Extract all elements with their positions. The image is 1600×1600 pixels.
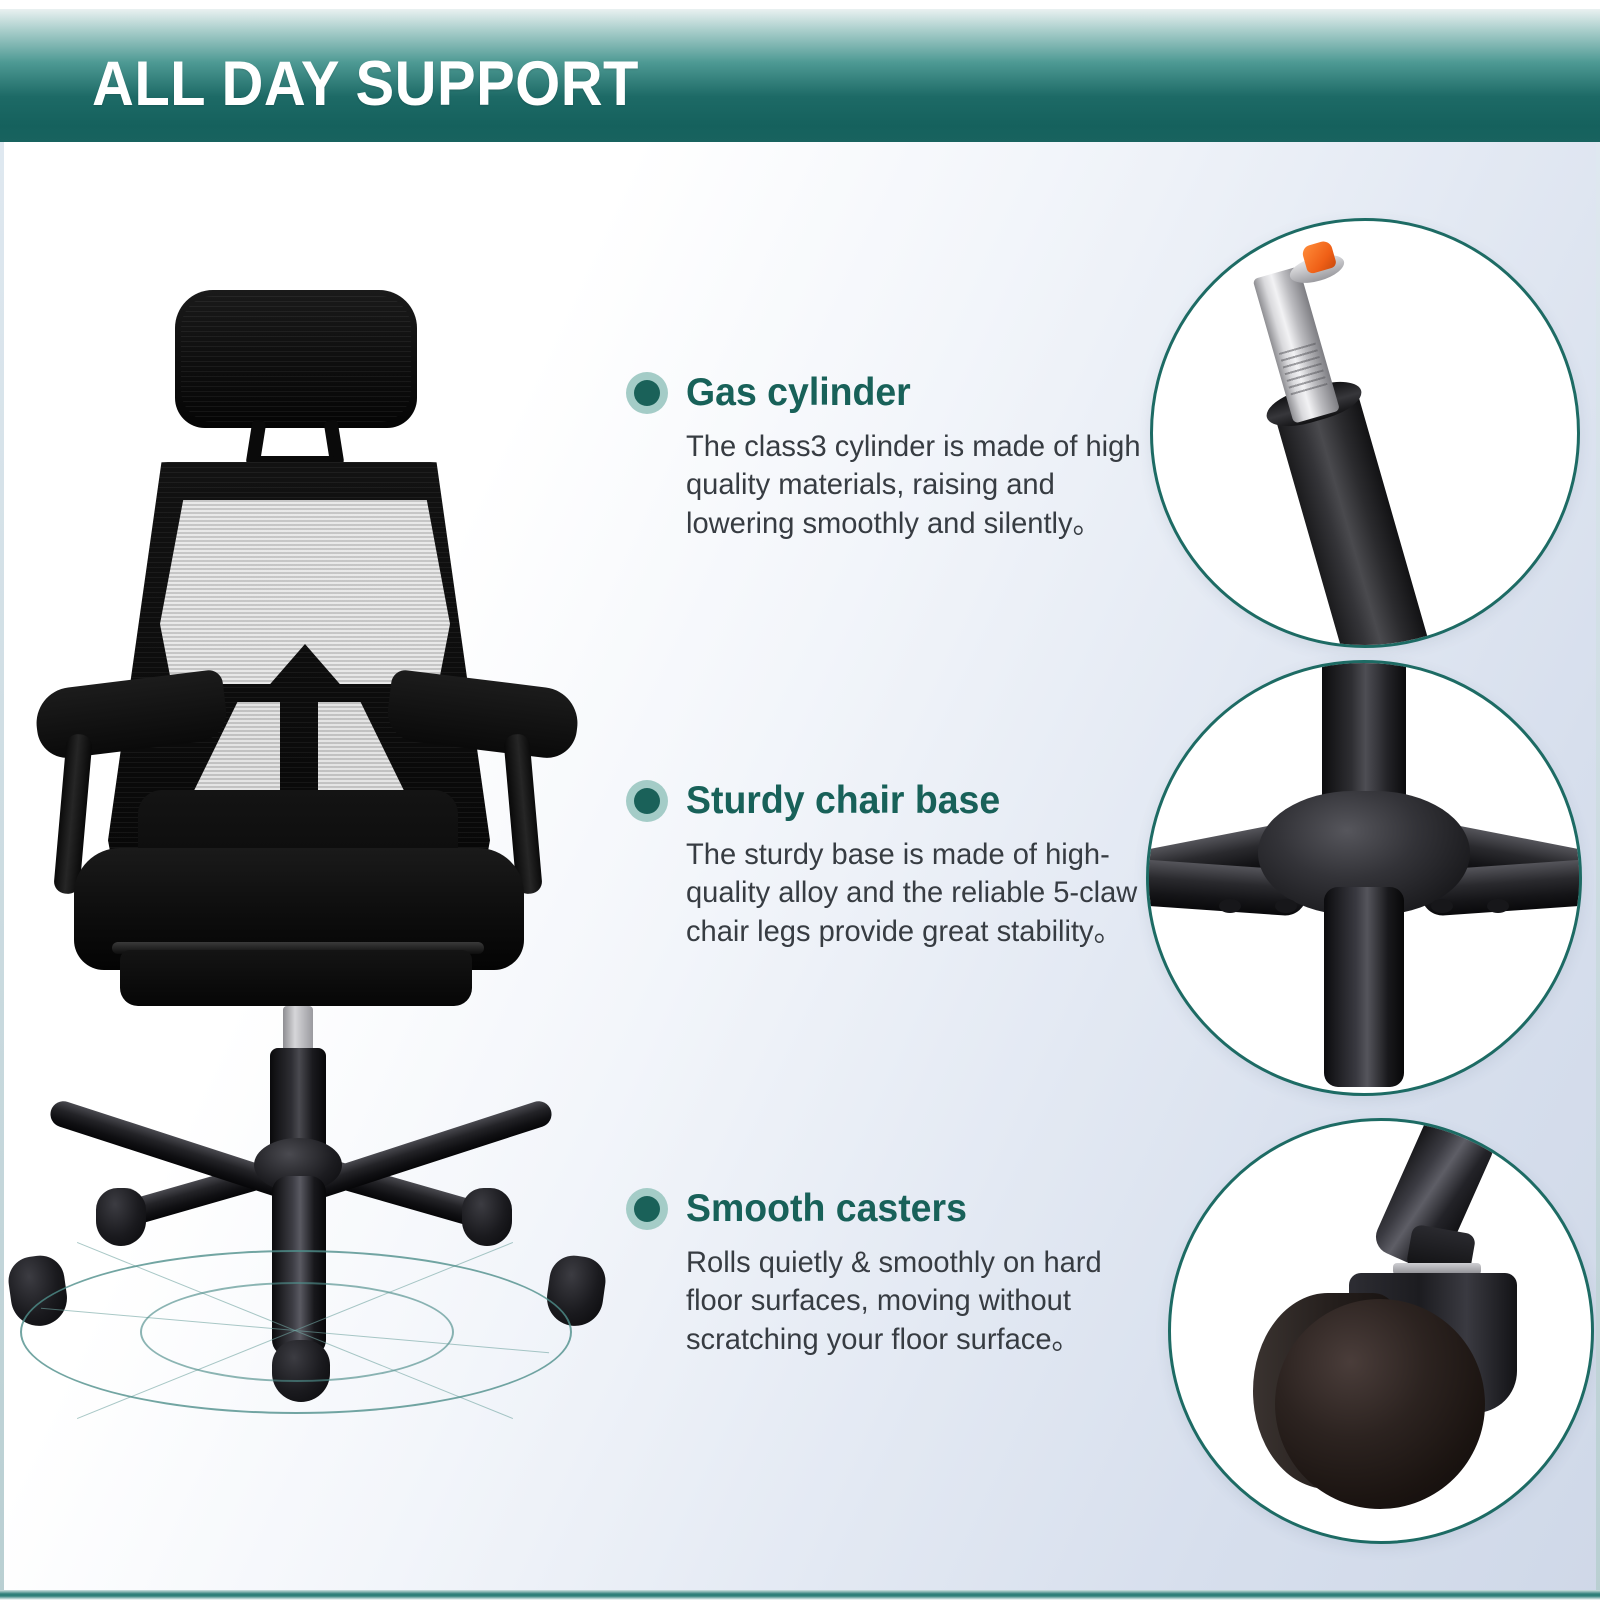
- right-edge: [1596, 142, 1600, 1600]
- feature-title: Sturdy chair base: [686, 781, 1000, 822]
- bottom-edge: [0, 1590, 1600, 1600]
- detail-photo-gas-cylinder: [1150, 218, 1580, 648]
- caster-wheel-mid-left: [96, 1188, 146, 1246]
- feature-description: The sturdy base is made of high-quality …: [686, 836, 1161, 951]
- bullet-dot-core-icon: [634, 1196, 660, 1222]
- caster-detail-front-wheel: [1275, 1299, 1485, 1509]
- gas-cylinder-rod: [283, 1006, 313, 1054]
- detail-photo-chair-base: [1146, 660, 1582, 1096]
- base-detail-screw: [1275, 899, 1297, 913]
- feature-heading-row: Gas cylinder: [626, 372, 1156, 414]
- cylinder-piston-shaft: [1253, 266, 1340, 423]
- feature-description: The class3 cylinder is made of high qual…: [686, 428, 1142, 543]
- feature-gas-cylinder: Gas cylinder The class3 cylinder is made…: [626, 372, 1156, 543]
- product-chair-image: [0, 250, 620, 1430]
- infographic-canvas: ALL DAY SUPPORT: [0, 0, 1600, 1600]
- chair-headrest: [175, 290, 417, 428]
- feature-heading-row: Sturdy chair base: [626, 780, 1176, 822]
- bullet-dot-core-icon: [634, 380, 660, 406]
- base-detail-screw: [1431, 899, 1453, 913]
- feature-description: Rolls quietly & smoothly on hard floor s…: [686, 1244, 1142, 1359]
- bullet-dot-icon: [626, 780, 668, 822]
- feature-sturdy-chair-base: Sturdy chair base The sturdy base is mad…: [626, 780, 1176, 951]
- feature-title: Gas cylinder: [686, 373, 911, 414]
- base-detail-screw: [1219, 899, 1241, 913]
- base-detail-center-post: [1322, 660, 1406, 809]
- floor-guide-ring-inner: [140, 1282, 454, 1382]
- left-edge: [0, 142, 4, 1600]
- gas-cylinder-art: [1153, 221, 1577, 645]
- base-detail-leg-front: [1324, 887, 1404, 1087]
- header-banner: ALL DAY SUPPORT: [0, 9, 1600, 142]
- bullet-dot-icon: [626, 372, 668, 414]
- detail-photo-caster: [1168, 1118, 1594, 1544]
- page-title: ALL DAY SUPPORT: [0, 53, 639, 142]
- retractable-footrest: [120, 950, 472, 1006]
- feature-smooth-casters: Smooth casters Rolls quietly & smoothly …: [626, 1188, 1156, 1359]
- base-detail-screw: [1487, 899, 1509, 913]
- bullet-dot-icon: [626, 1188, 668, 1230]
- bullet-dot-core-icon: [634, 788, 660, 814]
- feature-heading-row: Smooth casters: [626, 1188, 1156, 1230]
- feature-title: Smooth casters: [686, 1189, 967, 1230]
- caster-wheel-mid-right: [462, 1188, 512, 1246]
- top-edge: [0, 0, 1600, 9]
